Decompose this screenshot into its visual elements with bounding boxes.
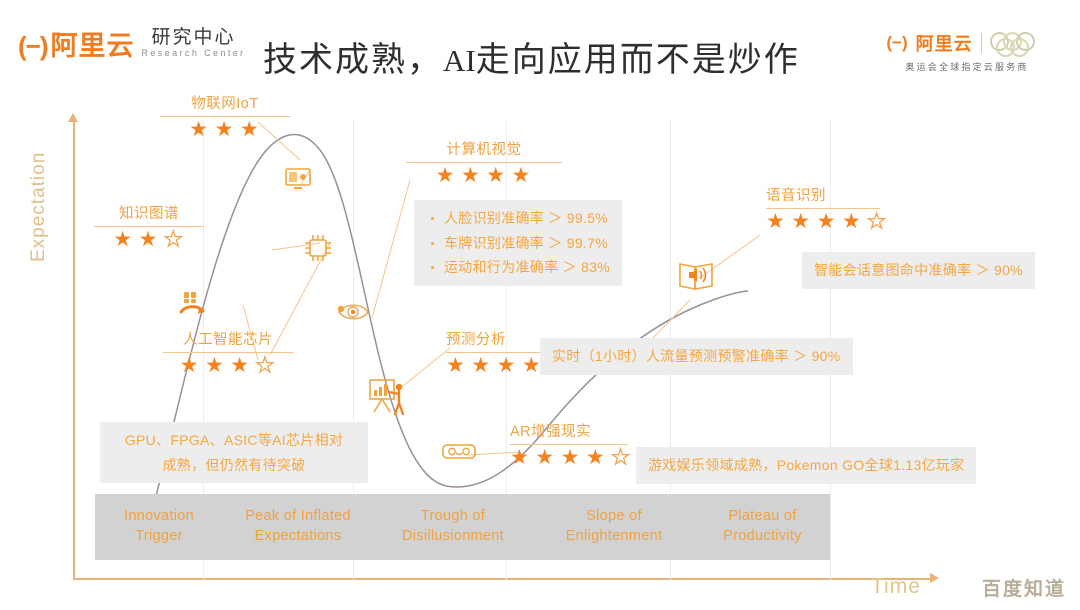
page-title-ai: AI — [443, 43, 476, 78]
star-filled: ★ — [230, 355, 249, 376]
x-axis-label: Time — [871, 575, 921, 599]
star-filled: ★ — [512, 165, 531, 186]
star-empty: ★ — [867, 211, 886, 232]
phase-line2: Productivity — [723, 528, 802, 544]
phase-label-peak-of-inflated-expectations: Peak of InflatedExpectations — [223, 494, 373, 560]
tech-label-speech-recognition: 语音识别 — [766, 184, 880, 205]
star-filled: ★ — [486, 165, 505, 186]
olympic-partner-logo: (−) 阿里云 奥运会全球指定云服务商 — [872, 30, 1062, 73]
watermark: 百度知道 — [982, 574, 1066, 601]
annotation-rule — [510, 444, 628, 445]
annotation-rule — [766, 208, 880, 209]
annotation-knowledge-graph: 知识图谱 ★ ★ ★ — [94, 202, 204, 250]
note-ai-chip-line1: GPU、FPGA、ASIC等AI芯片相对 — [112, 428, 356, 453]
rating-speech-recognition: ★ ★ ★ ★ ★ — [766, 211, 880, 232]
note-predictive: 实时（1小时）人流量预测预警准确率 ＞ 90% — [540, 338, 853, 375]
rating-ar: ★ ★ ★ ★ ★ — [510, 447, 628, 468]
phase-label-plateau-of-productivity: Plateau ofProductivity — [695, 494, 830, 560]
page-title-tail: 走向应用而不是炒作 — [476, 41, 800, 79]
page-title: 技术成熟，AI走向应用而不是炒作 — [263, 32, 800, 81]
rating-ai-chip: ★ ★ ★ ★ — [163, 355, 293, 376]
y-axis-line — [73, 120, 75, 580]
star-filled: ★ — [766, 211, 785, 232]
cv-bullet: 人脸识别准确率 ＞ 99.5% — [442, 206, 610, 231]
tech-label-computer-vision: 计算机视觉 — [406, 138, 562, 159]
alibaba-cloud-mark: (−) 阿里云 — [18, 33, 135, 60]
ali-bracket-icon-right: (−) — [886, 33, 907, 53]
star-filled: ★ — [205, 355, 224, 376]
note-computer-vision: 人脸识别准确率 ＞ 99.5% 车牌识别准确率 ＞ 99.7% 运动和行为准确率… — [414, 200, 622, 286]
star-filled: ★ — [113, 229, 132, 250]
phase-line1: Innovation — [124, 508, 194, 524]
annotation-rule — [163, 352, 293, 353]
cv-bullet: 车牌识别准确率 ＞ 99.7% — [442, 231, 610, 256]
star-filled: ★ — [586, 447, 605, 468]
star-filled: ★ — [436, 165, 455, 186]
annotation-rule — [94, 226, 204, 227]
note-ar: 游戏娱乐领域成熟，Pokemon GO全球1.13亿玩家 — [636, 447, 976, 484]
olympic-partner-subtitle: 奥运会全球指定云服务商 — [872, 60, 1062, 73]
note-ai-chip: GPU、FPGA、ASIC等AI芯片相对 成熟，但仍然有待突破 — [100, 422, 368, 483]
alibaba-cloud-name: 阿里云 — [51, 33, 135, 60]
tech-label-ar: AR增强现实 — [510, 420, 628, 441]
note-ai-chip-line2: 成熟，但仍然有待突破 — [112, 453, 356, 478]
cv-bullet-list: 人脸识别准确率 ＞ 99.5% 车牌识别准确率 ＞ 99.7% 运动和行为准确率… — [426, 206, 610, 280]
phase-label-slope-of-enlightenment: Slope ofEnlightenment — [533, 494, 695, 560]
page-title-head: 技术成熟， — [263, 41, 443, 79]
vr-goggles-icon — [441, 440, 477, 462]
star-filled: ★ — [535, 447, 554, 468]
star-filled: ★ — [510, 447, 529, 468]
phase-label-innovation-trigger: InnovationTrigger — [95, 494, 223, 560]
star-filled: ★ — [471, 355, 490, 376]
olympic-rings-icon — [990, 32, 1048, 54]
star-empty: ★ — [164, 229, 183, 250]
tech-label-iot: 物联网IoT — [160, 92, 290, 113]
olympic-partner-row: (−) 阿里云 — [872, 30, 1062, 56]
rating-knowledge-graph: ★ ★ ★ — [94, 229, 204, 250]
annotation-iot: 物联网IoT ★ ★ ★ — [160, 92, 290, 140]
annotation-speech-recognition: 语音识别 ★ ★ ★ ★ ★ — [766, 184, 880, 232]
slide-canvas: (−) 阿里云 研究中心 Research Center 技术成熟，AI走向应用… — [0, 0, 1080, 610]
star-filled: ★ — [215, 119, 234, 140]
phase-line2: Trigger — [135, 528, 183, 544]
phase-line2: Expectations — [255, 528, 342, 544]
phase-line1: Plateau of — [728, 508, 796, 524]
y-axis-label: Expectation — [28, 152, 50, 262]
phase-label-trough-of-disillusionment: Trough ofDisillusionment — [373, 494, 533, 560]
star-empty: ★ — [256, 355, 275, 376]
cv-bullet: 运动和行为准确率 ＞ 83% — [442, 255, 610, 280]
x-axis-line — [73, 578, 933, 580]
rating-iot: ★ ★ ★ — [160, 119, 290, 140]
star-filled: ★ — [817, 211, 836, 232]
phase-line1: Peak of Inflated — [245, 508, 351, 524]
star-filled: ★ — [461, 165, 480, 186]
y-axis-arrow-icon — [68, 113, 78, 122]
presentation-chart-icon — [368, 378, 406, 418]
phase-line1: Trough of — [421, 508, 485, 524]
star-filled: ★ — [842, 211, 861, 232]
star-filled: ★ — [561, 447, 580, 468]
chip-icon — [302, 232, 334, 264]
phase-line2: Disillusionment — [402, 528, 504, 544]
annotation-computer-vision: 计算机视觉 ★ ★ ★ ★ — [406, 138, 562, 186]
star-filled: ★ — [139, 229, 158, 250]
star-filled: ★ — [189, 119, 208, 140]
phase-line2: Enlightenment — [566, 528, 663, 544]
eye-icon — [336, 300, 370, 324]
research-center-block: 研究中心 Research Center — [142, 28, 246, 60]
tech-label-knowledge-graph: 知识图谱 — [94, 202, 204, 223]
annotation-rule — [160, 116, 290, 117]
annotation-ar: AR增强现实 ★ ★ ★ ★ ★ — [510, 420, 628, 468]
star-filled: ★ — [791, 211, 810, 232]
star-filled: ★ — [180, 355, 199, 376]
x-axis-arrow-icon — [930, 573, 939, 583]
tech-label-ai-chip: 人工智能芯片 — [163, 328, 293, 349]
star-filled: ★ — [497, 355, 516, 376]
monitor-icon — [284, 166, 312, 192]
knowledge-graph-icon — [178, 290, 206, 320]
ali-bracket-icon: (−) — [18, 33, 48, 59]
phase-line1: Slope of — [586, 508, 642, 524]
phase-band: InnovationTrigger Peak of InflatedExpect… — [95, 494, 830, 560]
research-center-en: Research Center — [142, 48, 246, 59]
alibaba-cloud-name-right: 阿里云 — [916, 30, 973, 56]
rating-computer-vision: ★ ★ ★ ★ — [406, 165, 562, 186]
logo-divider — [981, 33, 982, 53]
alibaba-cloud-research-center-logo: (−) 阿里云 研究中心 Research Center — [18, 28, 246, 60]
annotation-rule — [406, 162, 562, 163]
star-filled: ★ — [240, 119, 259, 140]
star-filled: ★ — [522, 355, 541, 376]
annotation-ai-chip: 人工智能芯片 ★ ★ ★ ★ — [163, 328, 293, 376]
speaking-book-icon — [677, 256, 715, 294]
note-speech-recognition: 智能会话意图命中准确率 ＞ 90% — [802, 252, 1035, 289]
star-filled: ★ — [446, 355, 465, 376]
research-center-cn: 研究中心 — [152, 28, 236, 48]
star-empty: ★ — [611, 447, 630, 468]
